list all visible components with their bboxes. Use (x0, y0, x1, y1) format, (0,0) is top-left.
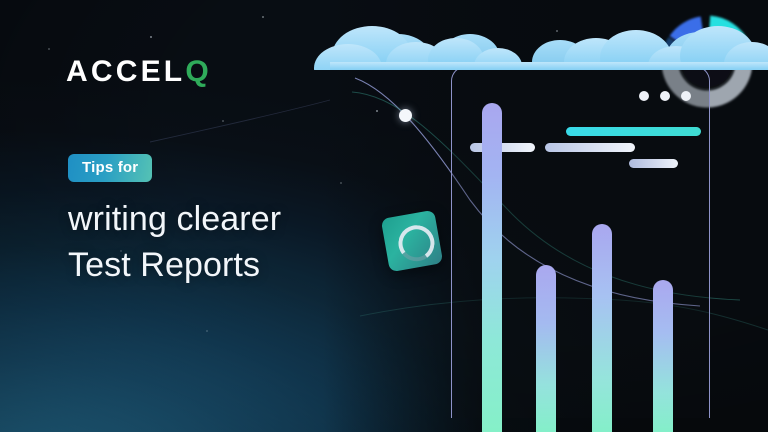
window-dot-icon (660, 91, 670, 101)
page-title: writing clearer Test Reports (68, 196, 281, 288)
chart-bar (482, 103, 502, 432)
chart-bar (592, 224, 612, 432)
accelq-logo: ACCELQ (66, 57, 212, 87)
content-line-highlight (566, 127, 701, 136)
window-dot-icon (639, 91, 649, 101)
content-row (470, 143, 695, 152)
tips-badge: Tips for (68, 154, 152, 182)
logo-accent-letter: Q (185, 55, 212, 88)
content-line-short (629, 159, 679, 168)
headline-line-1: writing clearer (68, 196, 281, 242)
progress-ring-icon (396, 223, 437, 264)
headline-line-2: Test Reports (68, 242, 281, 288)
content-row (470, 159, 695, 168)
logo-text: ACCEL (66, 55, 185, 88)
content-row (470, 127, 695, 136)
chart-bar (536, 265, 556, 432)
content-line (470, 143, 535, 152)
content-line (545, 143, 635, 152)
promo-banner: ACCELQ Tips for writing clearer Test Rep… (0, 0, 768, 432)
report-content-lines (470, 127, 695, 175)
window-dots (639, 91, 691, 101)
progress-ring-tile (381, 210, 444, 273)
curve-node-dot (399, 109, 412, 122)
window-dot-icon (681, 91, 691, 101)
chart-bar (653, 280, 673, 432)
